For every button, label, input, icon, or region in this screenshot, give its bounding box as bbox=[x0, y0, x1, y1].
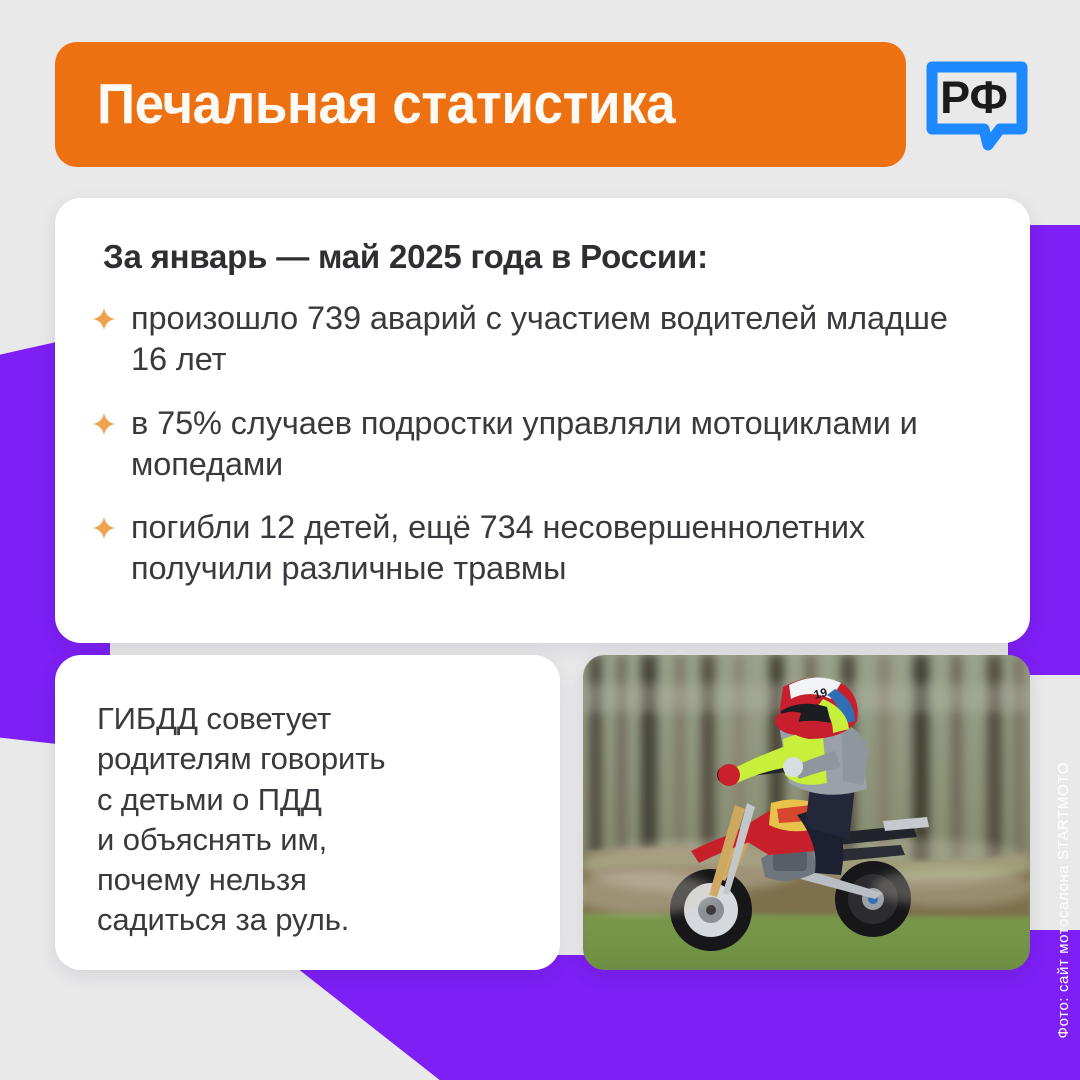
title-banner: Печальная статистика bbox=[55, 42, 906, 167]
photo-credit-label: Фото: сайт мотосалона STARTMOTO bbox=[1055, 762, 1072, 1038]
page-title: Печальная статистика bbox=[97, 76, 675, 133]
orange-diamond-bullet-icon bbox=[93, 308, 115, 330]
orange-diamond-bullet-icon bbox=[93, 413, 115, 435]
list-item-label: в 75% случаев подростки управляли мотоци… bbox=[131, 403, 982, 486]
statistics-list: произошло 739 аварий с участием водителе… bbox=[93, 298, 982, 590]
photo-motorcycle-rider: 19 bbox=[583, 655, 1030, 970]
statistics-card: За январь — май 2025 года в России: прои… bbox=[55, 198, 1030, 643]
purple-shape-bottom bbox=[170, 955, 1080, 1080]
list-item: произошло 739 аварий с участием водителе… bbox=[93, 298, 982, 381]
statistics-heading: За январь — май 2025 года в России: bbox=[103, 238, 982, 276]
infographic-canvas: Печальная статистика РФ За январь — май … bbox=[0, 0, 1080, 1080]
advice-card: ГИБДД советует родителям говорить с деть… bbox=[55, 655, 560, 970]
list-item: погибли 12 детей, ещё 734 несовершенноле… bbox=[93, 507, 982, 590]
orange-diamond-bullet-icon bbox=[93, 517, 115, 539]
list-item: в 75% случаев подростки управляли мотоци… bbox=[93, 403, 982, 486]
advice-text: ГИБДД советует родителям говорить с деть… bbox=[97, 699, 530, 941]
list-item-label: погибли 12 детей, ещё 734 несовершенноле… bbox=[131, 507, 982, 590]
photo-credit: Фото: сайт мотосалона STARTMOTO bbox=[1050, 668, 1076, 1038]
svg-text:РФ: РФ bbox=[940, 72, 1008, 123]
speech-bubble-rf-logo-icon: РФ bbox=[924, 51, 1030, 157]
header: Печальная статистика РФ bbox=[55, 38, 1030, 170]
list-item-label: произошло 739 аварий с участием водителе… bbox=[131, 298, 982, 381]
